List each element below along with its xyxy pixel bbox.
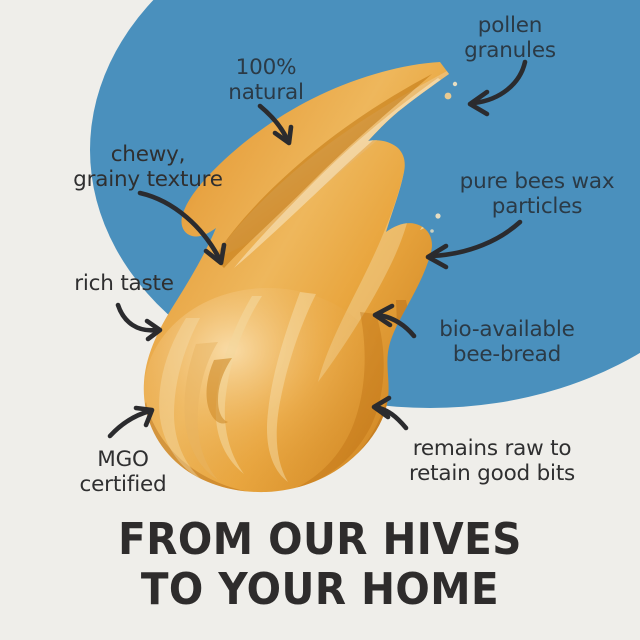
- label-pollen-granules: pollen granules: [440, 14, 580, 64]
- label-mgo-certified: MGO certified: [60, 448, 186, 498]
- label-100-natural: 100% natural: [206, 56, 326, 106]
- headline-line-2: TO YOUR HOME: [26, 568, 615, 612]
- label-chewy-grainy-texture: chewy, grainy texture: [58, 143, 238, 193]
- arrow-to-mgo: [110, 408, 152, 436]
- headline: FROM OUR HIVES TO YOUR HOME: [26, 518, 615, 612]
- label-bio-available-bee-bread: bio-available bee-bread: [424, 318, 590, 368]
- poster-canvas: pollen granules 100% natural chewy, grai…: [0, 0, 640, 640]
- label-remains-raw-retain-good-bits: remains raw to retain good bits: [392, 437, 592, 487]
- arrow-to-rich-taste: [118, 305, 160, 339]
- label-pure-bees-wax-particles: pure bees wax particles: [444, 170, 630, 220]
- label-rich-taste: rich taste: [63, 272, 185, 297]
- headline-line-1: FROM OUR HIVES: [26, 518, 615, 562]
